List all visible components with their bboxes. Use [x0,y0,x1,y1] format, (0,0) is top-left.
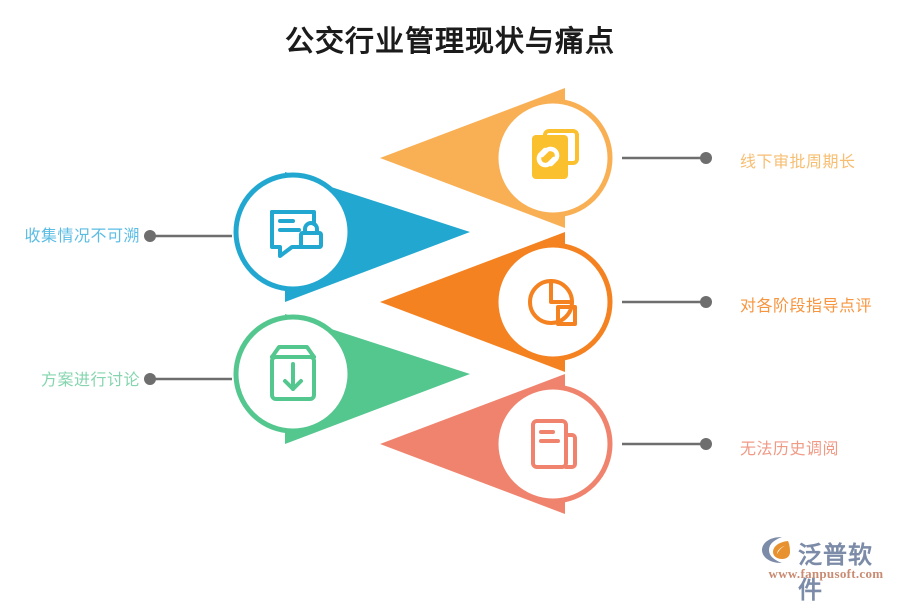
infographic-canvas: 公交行业管理现状与痛点 [0,0,900,600]
label-discuss: 方案进行讨论 [0,366,140,390]
connector-dot-discuss [144,373,156,385]
node-collect[interactable] [236,175,350,289]
node-history[interactable] [496,387,610,501]
connector-dot-history [700,438,712,450]
logo-url: www.fanpusoft.com [760,566,892,582]
label-approval: 线下审批周期长 [740,148,900,172]
company-logo[interactable]: 泛普软件 www.fanpusoft.com [760,533,892,591]
label-guidance: 对各阶段指导点评 [740,292,900,316]
label-history: 无法历史调阅 [740,435,900,459]
connector-dot-collect [144,230,156,242]
connector-dot-guidance [700,296,712,308]
node-history-circle[interactable] [496,387,610,501]
fanpu-swoosh-icon [760,535,796,565]
node-discuss[interactable] [236,317,350,431]
connector-dot-approval [700,152,712,164]
label-collect: 收集情况不可溯 [0,222,140,246]
node-guidance[interactable] [496,245,610,359]
node-approval[interactable] [496,101,610,215]
